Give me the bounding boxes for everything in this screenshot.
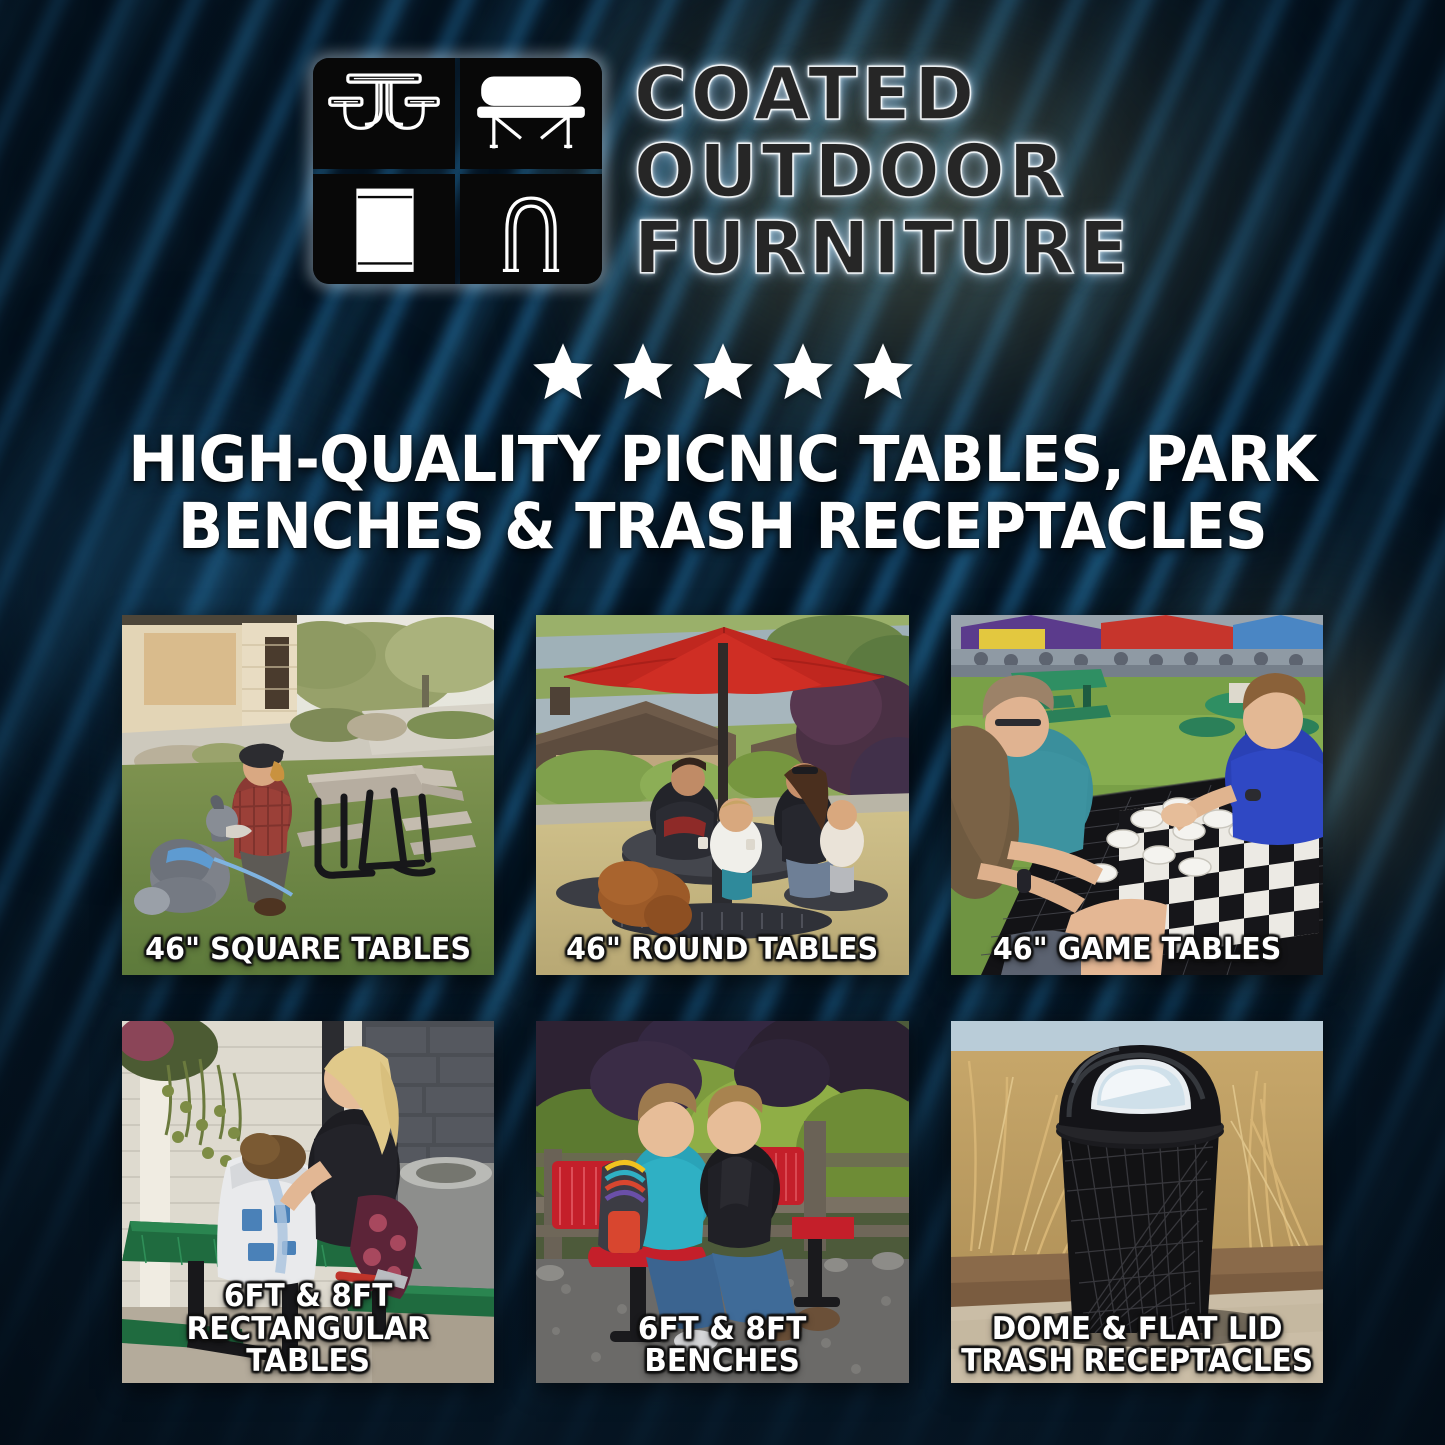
product-grid: 46" SQUARE TABLES	[122, 615, 1323, 1383]
caption-line-1: 46" ROUND TABLES	[566, 932, 878, 967]
star-icon	[690, 340, 756, 404]
product-photo-square-tables	[122, 615, 494, 975]
caption-line-2: RECTANGULAR TABLES	[131, 1313, 485, 1377]
product-photo-game-tables	[951, 615, 1323, 975]
product-tile-square-tables[interactable]: 46" SQUARE TABLES	[122, 615, 494, 975]
bench-icon	[460, 58, 602, 169]
product-caption-square-tables: 46" SQUARE TABLES	[131, 934, 485, 965]
headline-line-2: BENCHES & TRASH RECEPTACLES	[100, 493, 1346, 560]
star-icon	[610, 340, 676, 404]
product-tile-trash-receptacles[interactable]: DOME & FLAT LID TRASH RECEPTACLES	[951, 1021, 1323, 1383]
product-photo-round-tables	[536, 615, 908, 975]
product-caption-benches: 6FT & 8FT BENCHES	[546, 1313, 900, 1377]
product-caption-round-tables: 46" ROUND TABLES	[546, 934, 900, 965]
product-row-bottom: 6FT & 8FT RECTANGULAR TABLES	[122, 1021, 1323, 1383]
brand-word-furniture: FURNITURE	[634, 214, 1132, 283]
caption-line-1: DOME & FLAT LID	[991, 1311, 1282, 1347]
star-rating	[0, 340, 1445, 404]
product-row-top: 46" SQUARE TABLES	[122, 615, 1323, 975]
dome-lid-icon	[460, 174, 602, 285]
caption-line-1: 6FT & 8FT	[638, 1311, 807, 1347]
trash-can-icon	[313, 174, 455, 285]
logo-icon-grid	[313, 58, 602, 284]
star-icon	[850, 340, 916, 404]
brand-word-coated: COATED	[634, 60, 1132, 129]
star-icon	[530, 340, 596, 404]
picnic-table-icon	[313, 58, 455, 169]
product-tile-rectangular-tables[interactable]: 6FT & 8FT RECTANGULAR TABLES	[122, 1021, 494, 1383]
product-tile-game-tables[interactable]: 46" GAME TABLES	[951, 615, 1323, 975]
brand-logo: COATED OUTDOOR FURNITURE	[0, 58, 1445, 284]
caption-line-1: 6FT & 8FT	[224, 1278, 393, 1314]
product-tile-benches[interactable]: 6FT & 8FT BENCHES	[536, 1021, 908, 1383]
caption-line-1: 46" GAME TABLES	[993, 932, 1282, 967]
caption-line-1: 46" SQUARE TABLES	[145, 932, 471, 967]
product-caption-trash-receptacles: DOME & FLAT LID TRASH RECEPTACLES	[960, 1313, 1314, 1377]
caption-line-2: BENCHES	[546, 1345, 900, 1377]
brand-word-outdoor: OUTDOOR	[634, 137, 1132, 206]
product-caption-game-tables: 46" GAME TABLES	[960, 934, 1314, 965]
product-tile-round-tables[interactable]: 46" ROUND TABLES	[536, 615, 908, 975]
caption-line-2: TRASH RECEPTACLES	[960, 1345, 1314, 1377]
headline-line-1: HIGH-QUALITY PICNIC TABLES, PARK	[100, 426, 1346, 493]
star-icon	[770, 340, 836, 404]
product-caption-rectangular-tables: 6FT & 8FT RECTANGULAR TABLES	[131, 1280, 485, 1377]
page-headline: HIGH-QUALITY PICNIC TABLES, PARK BENCHES…	[100, 426, 1346, 561]
brand-wordmark: COATED OUTDOOR FURNITURE	[634, 58, 1132, 283]
